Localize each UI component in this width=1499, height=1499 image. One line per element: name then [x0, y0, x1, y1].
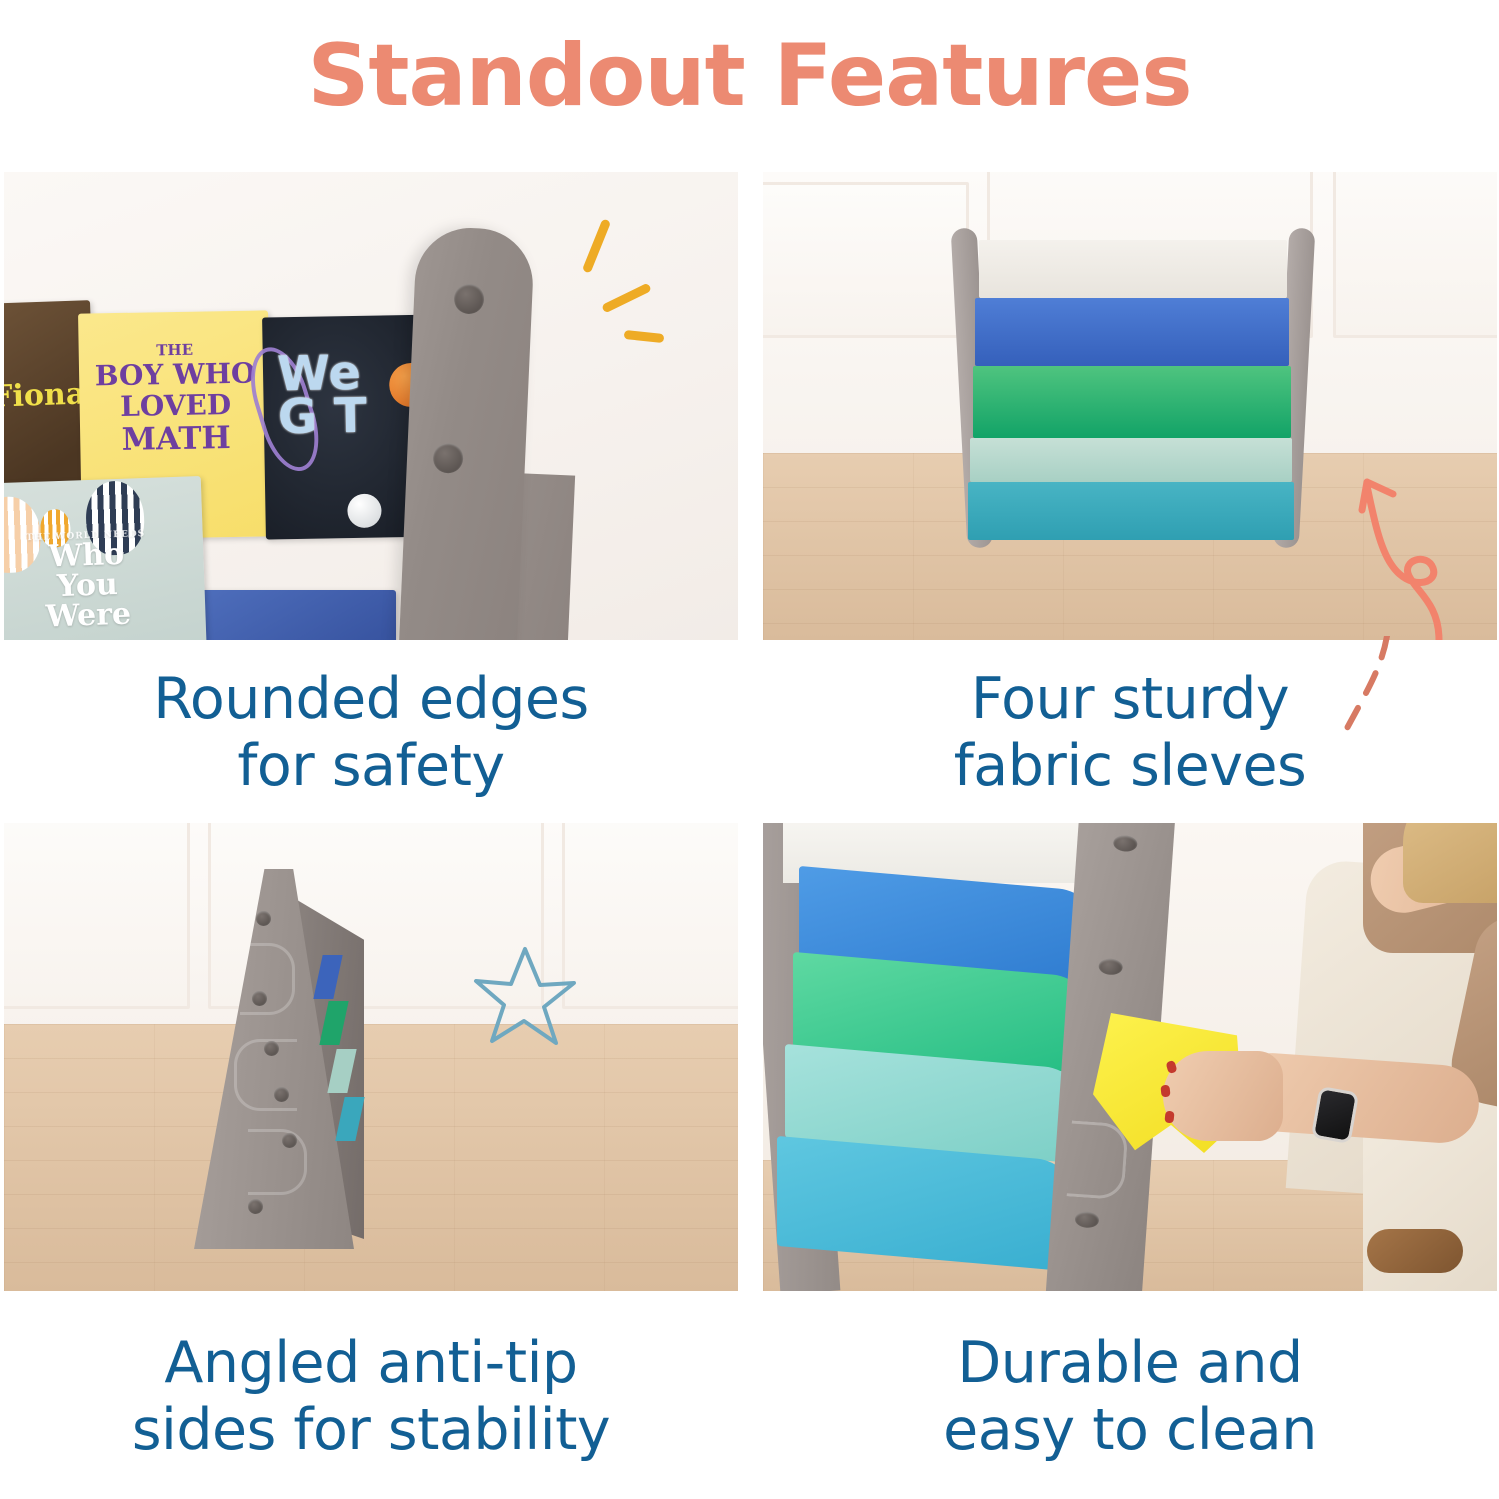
screw-head: [252, 991, 267, 1006]
screw-head: [256, 911, 271, 926]
infographic-page: Standout Features Fiona'sLuck THE BOY WH…: [0, 0, 1499, 1499]
banana-art: [202, 610, 333, 640]
book-title-line: MATH: [88, 420, 265, 458]
caption-rounded-edges: Rounded edges for safety: [4, 666, 738, 801]
screw-head: [274, 1087, 289, 1102]
screw-head: [248, 1199, 263, 1214]
screw-head: [282, 1133, 297, 1148]
panel-groove: [248, 1129, 307, 1195]
photo-anti-tip-sides: [4, 823, 738, 1291]
book-banana-cover: [186, 590, 396, 640]
wainscot-panel: [1333, 172, 1497, 338]
caption-line-2: for safety: [4, 733, 738, 800]
fingernail: [1160, 1085, 1170, 1098]
screw-head: [1113, 835, 1138, 853]
fabric-sleeve-4: [970, 438, 1292, 482]
caption-easy-clean: Durable and easy to clean: [763, 1330, 1497, 1465]
soccer-ball-art: [347, 494, 382, 529]
book-title-line: Were: [23, 599, 154, 634]
caption-line-1: Four sturdy: [763, 666, 1497, 733]
screw-head: [264, 1041, 279, 1056]
shelf-rounded-edge-panel: [399, 226, 535, 640]
book-title-line: BOY WHO: [87, 357, 264, 391]
photo-easy-clean: [763, 823, 1497, 1291]
book-title-line: G T: [277, 388, 367, 446]
feature-card-anti-tip-sides: [4, 823, 738, 1291]
caption-line-2: easy to clean: [763, 1397, 1497, 1464]
caption-anti-tip-sides: Angled anti-tip sides for stability: [4, 1330, 738, 1465]
fabric-sleeve-5: [968, 482, 1294, 540]
book-group: Fiona'sLuck THE BOY WHO LOVED MATH WeG T: [4, 290, 426, 640]
screw-head: [453, 283, 484, 314]
page-title: Standout Features: [0, 26, 1499, 126]
feature-card-easy-clean: [763, 823, 1497, 1291]
caption-line-1: Durable and: [763, 1330, 1497, 1397]
fabric-sleeve-1: [979, 240, 1287, 298]
photo-rounded-edges: Fiona'sLuck THE BOY WHO LOVED MATH WeG T: [4, 172, 738, 640]
wainscot-panel: [4, 823, 190, 1009]
screw-head: [432, 443, 463, 474]
caption-fabric-sleeves: Four sturdy fabric sleves: [763, 666, 1497, 801]
screw-head: [1098, 958, 1123, 976]
person-sandal: [1367, 1229, 1463, 1273]
caption-line-1: Rounded edges: [4, 666, 738, 733]
panel-groove: [1067, 1120, 1129, 1200]
book-shelf-unit: [959, 228, 1307, 548]
fabric-sleeve-2: [975, 298, 1289, 366]
feature-card-rounded-edges: Fiona'sLuck THE BOY WHO LOVED MATH WeG T: [4, 172, 738, 640]
screw-head: [1074, 1211, 1099, 1229]
panel-groove: [240, 943, 295, 1015]
person-hand: [1163, 1051, 1283, 1141]
book-title-line: LOVED: [87, 389, 264, 423]
caption-line-2: fabric sleves: [763, 733, 1497, 800]
wainscot-panel: [562, 823, 738, 1009]
wainscot-panel: [763, 182, 969, 338]
book-who-you-were: THE WORLD NEEDS Who You Were: [4, 476, 207, 640]
book-shelf-closeup: [763, 823, 1153, 1291]
person-hair: [1403, 823, 1497, 903]
caption-line-2: sides for stability: [4, 1397, 738, 1464]
shelf-side-profile: [194, 869, 454, 1249]
caption-line-1: Angled anti-tip: [4, 1330, 738, 1397]
fabric-sleeve-3: [973, 366, 1291, 438]
feature-card-fabric-sleeves: [763, 172, 1497, 640]
photo-fabric-sleeves: [763, 172, 1497, 640]
